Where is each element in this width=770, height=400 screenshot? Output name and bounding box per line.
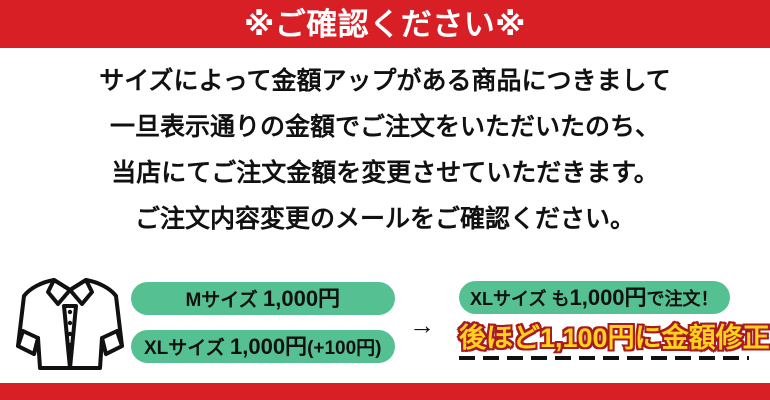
price-pill-size-m-label: Mサイズ 1,000円 bbox=[185, 288, 340, 310]
notice-line-3: 当店にてご注文金額を変更させていただきます。 bbox=[0, 150, 770, 196]
dashed-underline bbox=[459, 356, 749, 360]
price-pill-size-m: Mサイズ 1,000円 bbox=[131, 282, 395, 315]
before-price-group: Mサイズ 1,000円 XLサイズ 1,000円(+100円) bbox=[131, 282, 395, 363]
price-comparison-area: Mサイズ 1,000円 XLサイズ 1,000円(+100円) → XLサイズ … bbox=[0, 268, 770, 378]
dress-shirt-icon bbox=[14, 268, 126, 376]
footer-banner bbox=[0, 383, 770, 400]
price-correction-text: 後ほど1,100円に金額修正 bbox=[459, 324, 751, 352]
right-arrow-icon: → bbox=[402, 312, 442, 338]
order-note-label: XLサイズ も1,000円で注文！ bbox=[470, 287, 719, 309]
order-note-pill: XLサイズ も1,000円で注文！ bbox=[459, 281, 730, 314]
notice-line-2: 一旦表示通りの金額でご注文をいただいたのち、 bbox=[0, 104, 770, 150]
notice-line-4: ご注文内容変更のメールをご確認ください。 bbox=[0, 196, 770, 242]
notice-text-block: サイズによって金額アップがある商品につきまして 一旦表示通りの金額でご注文をいた… bbox=[0, 58, 770, 242]
price-pill-size-xl: XLサイズ 1,000円(+100円) bbox=[131, 330, 395, 363]
header-banner: ※ご確認ください※ bbox=[0, 0, 770, 48]
after-price-group: XLサイズ も1,000円で注文！ 後ほど1,100円に金額修正 bbox=[459, 268, 759, 360]
notice-line-1: サイズによって金額アップがある商品につきまして bbox=[0, 58, 770, 104]
price-pill-size-xl-label: XLサイズ 1,000円(+100円) bbox=[144, 336, 382, 358]
page-title: ※ご確認ください※ bbox=[244, 9, 526, 40]
price-correction-block: 後ほど1,100円に金額修正 bbox=[459, 324, 751, 360]
